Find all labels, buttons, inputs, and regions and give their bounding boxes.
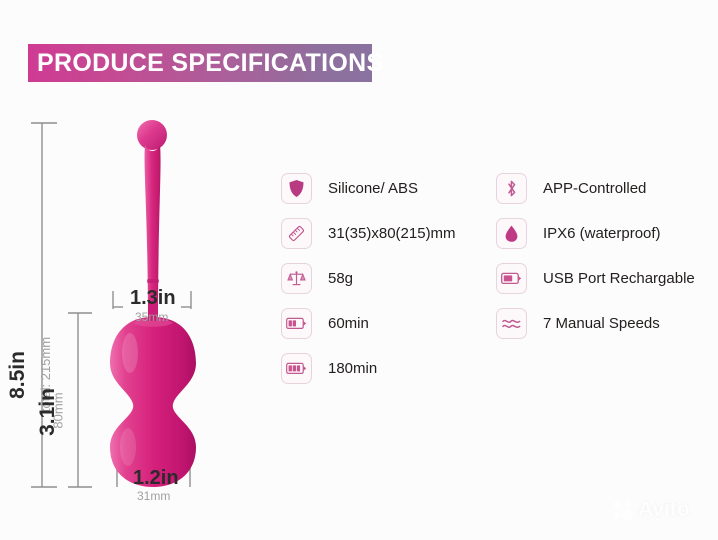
waves-icon — [496, 308, 527, 339]
spec-item-material: Silicone/ ABS — [281, 166, 456, 210]
dimension-neck-width-mm: 35mm — [135, 310, 168, 324]
three-circles-logo — [612, 499, 635, 521]
ruler-icon — [281, 218, 312, 249]
product-stem-joint — [147, 279, 159, 283]
battery-usb-icon — [496, 263, 527, 294]
water-drop-icon — [496, 218, 527, 249]
page-title: PRODUCE SPECIFICATIONS — [28, 49, 383, 78]
spec-item-dimensions: 31(35)x80(215)mm — [281, 211, 456, 255]
shield-icon — [281, 173, 312, 204]
dimension-body-width-mm: 31mm — [137, 489, 170, 503]
product-top-ball — [137, 120, 167, 150]
product-highlight-lower — [120, 428, 136, 466]
dimension-line-body-height — [68, 313, 92, 487]
spec-label-standby: 180min — [328, 360, 377, 377]
scale-icon — [281, 263, 312, 294]
product-illustration-area: 8.5in total: 215mm 3.1in 80mm 1.3in 35mm… — [0, 95, 265, 525]
spec-item-waterproof: IPX6 (waterproof) — [496, 211, 695, 255]
spec-label-charging: USB Port Rechargable — [543, 270, 695, 287]
spec-item-speeds: 7 Manual Speeds — [496, 301, 695, 345]
spec-label-waterproof: IPX6 (waterproof) — [543, 225, 661, 242]
spec-label-runtime: 60min — [328, 315, 369, 332]
dimension-body-width-inches: 1.2in — [133, 467, 179, 490]
product-specification-page: PRODUCE SPECIFICATIONS — [0, 0, 718, 540]
spec-label-dimensions: 31(35)x80(215)mm — [328, 225, 456, 242]
battery-full-icon — [281, 353, 312, 384]
dimension-total-height-inches: 8.5in — [6, 351, 30, 399]
spec-item-runtime: 60min — [281, 301, 456, 345]
spec-item-standby: 180min — [281, 346, 456, 390]
spec-label-app-control: APP-Controlled — [543, 180, 646, 197]
watermark-text: Avito — [638, 498, 690, 522]
spec-label-material: Silicone/ ABS — [328, 180, 418, 197]
product-diagram — [0, 95, 265, 525]
spec-list-right: APP-Controlled IPX6 (waterproof) USB Por… — [496, 166, 695, 346]
bluetooth-icon — [496, 173, 527, 204]
spec-label-speeds: 7 Manual Speeds — [543, 315, 660, 332]
spec-label-weight: 58g — [328, 270, 353, 287]
avito-watermark: Avito — [612, 498, 690, 522]
battery-half-icon — [281, 308, 312, 339]
spec-list-left: Silicone/ ABS 31(35)x80(215)mm — [281, 166, 456, 391]
product-highlight-upper — [122, 333, 138, 373]
spec-item-app-control: APP-Controlled — [496, 166, 695, 210]
dimension-body-height-mm: 80mm — [51, 392, 66, 428]
dimension-neck-width-inches: 1.3in — [130, 287, 176, 310]
spec-item-charging: USB Port Rechargable — [496, 256, 695, 300]
page-title-banner: PRODUCE SPECIFICATIONS — [28, 44, 372, 82]
spec-item-weight: 58g — [281, 256, 456, 300]
